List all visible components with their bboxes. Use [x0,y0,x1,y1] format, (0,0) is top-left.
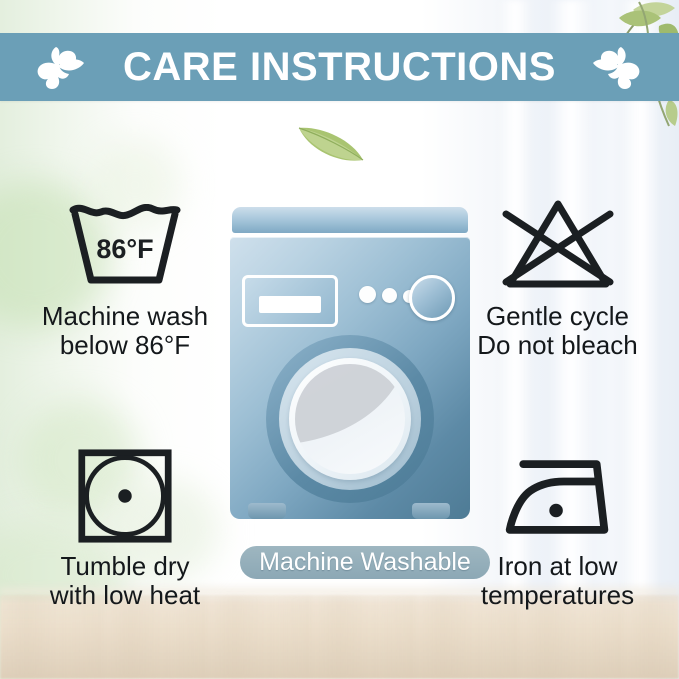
iron-icon [436,446,679,546]
control-knob [409,275,455,321]
instruction-iron-low: Iron at low temperatures [436,446,679,610]
wash-tub-icon: 86°F [0,196,250,296]
detergent-drawer [242,275,338,327]
control-button-1 [359,286,376,303]
door-ring-outer [279,348,421,490]
care-instructions-graphic: CARE INSTRUCTIONS 86°F Machine wash belo… [0,0,679,679]
machine-foot-right [412,503,450,519]
tumble-dry-icon [0,446,250,546]
header-banner: CARE INSTRUCTIONS [0,33,679,101]
wash-temp-value: 86°F [96,234,153,264]
leaf-icon [295,120,367,166]
instruction-caption: Gentle cycle Do not bleach [436,302,679,360]
control-button-2 [382,288,397,303]
machine-top-panel [232,207,468,233]
page-title: CARE INSTRUCTIONS [0,47,679,87]
status-badge-label: Machine Washable [259,550,471,575]
door-highlight [295,364,405,444]
instruction-caption: Tumble dry with low heat [0,552,250,610]
detergent-drawer-slot [259,296,321,313]
instruction-caption: Machine wash below 86°F [0,302,250,360]
door-ring-inner [289,358,411,480]
machine-door [266,335,434,503]
fleur-de-lis-icon [591,43,647,91]
machine-foot-left [248,503,286,519]
status-badge: Machine Washable [240,546,490,579]
triangle-crossed-icon [436,196,679,296]
instruction-tumble-dry: Tumble dry with low heat [0,446,250,610]
instruction-do-not-bleach: Gentle cycle Do not bleach [436,196,679,360]
machine-body [230,237,470,519]
door-glass [295,364,405,474]
washing-machine-illustration [230,207,470,537]
instruction-machine-wash: 86°F Machine wash below 86°F [0,196,250,360]
